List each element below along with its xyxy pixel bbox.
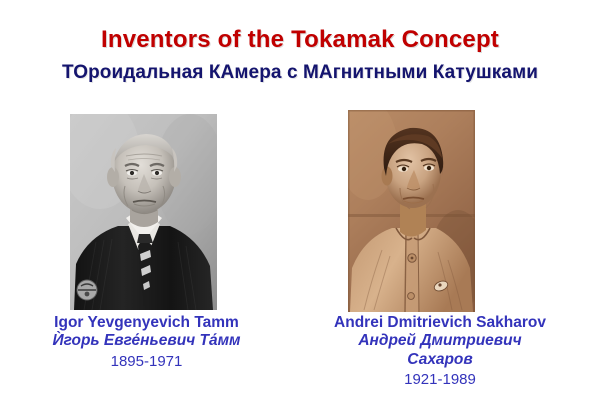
slide-canvas: Inventors of the Tokamak Concept ТОроида…: [0, 0, 600, 410]
page-title: Inventors of the Tokamak Concept: [0, 26, 600, 54]
caption-sakharov-name-cyrillic-line2: Сахаров: [295, 351, 585, 369]
caption-sakharov-name-latin: Andrei Dmitrievich Sakharov: [295, 314, 585, 332]
caption-sakharov-years: 1921-1989: [295, 369, 585, 389]
portrait-sakharov-image: [348, 110, 475, 312]
portrait-sakharov-photo: [348, 110, 475, 312]
caption-sakharov: Andrei Dmitrievich Sakharov Андрей Дмитр…: [295, 314, 585, 389]
photo-watermark-icon: [77, 280, 97, 300]
caption-tamm: Igor Yevgenyevich Tamm Ѝгорь Евге́ньевич…: [4, 314, 289, 370]
caption-tamm-name-cyrillic: Ѝгорь Евге́ньевич Та́мм: [4, 332, 289, 350]
caption-sakharov-name-cyrillic-line1: Андрей Дмитриевич: [295, 332, 585, 350]
portrait-tamm-image: [70, 114, 217, 310]
caption-tamm-name-latin: Igor Yevgenyevich Tamm: [4, 314, 289, 332]
portrait-tamm-photo: [70, 114, 217, 310]
caption-tamm-years: 1895-1971: [4, 351, 289, 371]
page-subtitle: ТОроидальная КАмера с МАгнитными Катушка…: [0, 62, 600, 84]
